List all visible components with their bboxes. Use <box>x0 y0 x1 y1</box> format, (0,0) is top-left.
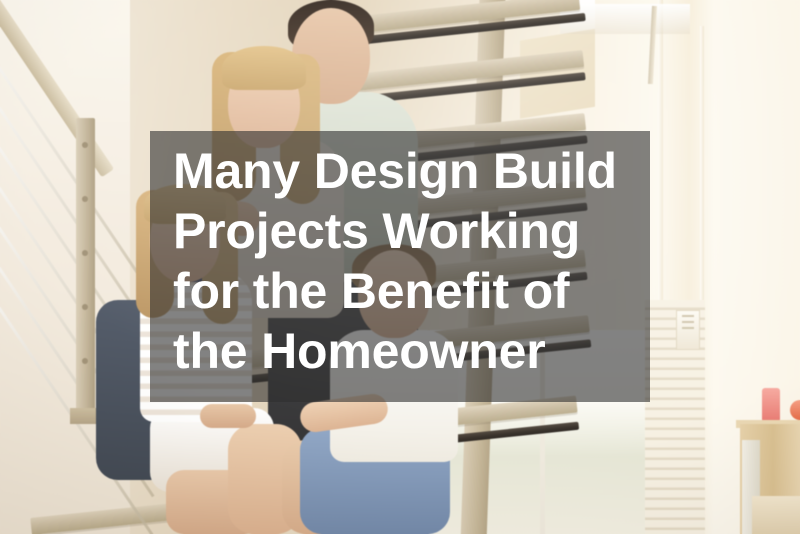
page-title: Many Design Build Projects Working for t… <box>173 141 643 381</box>
hero-image-container: Many Design Build Projects Working for t… <box>0 0 800 534</box>
